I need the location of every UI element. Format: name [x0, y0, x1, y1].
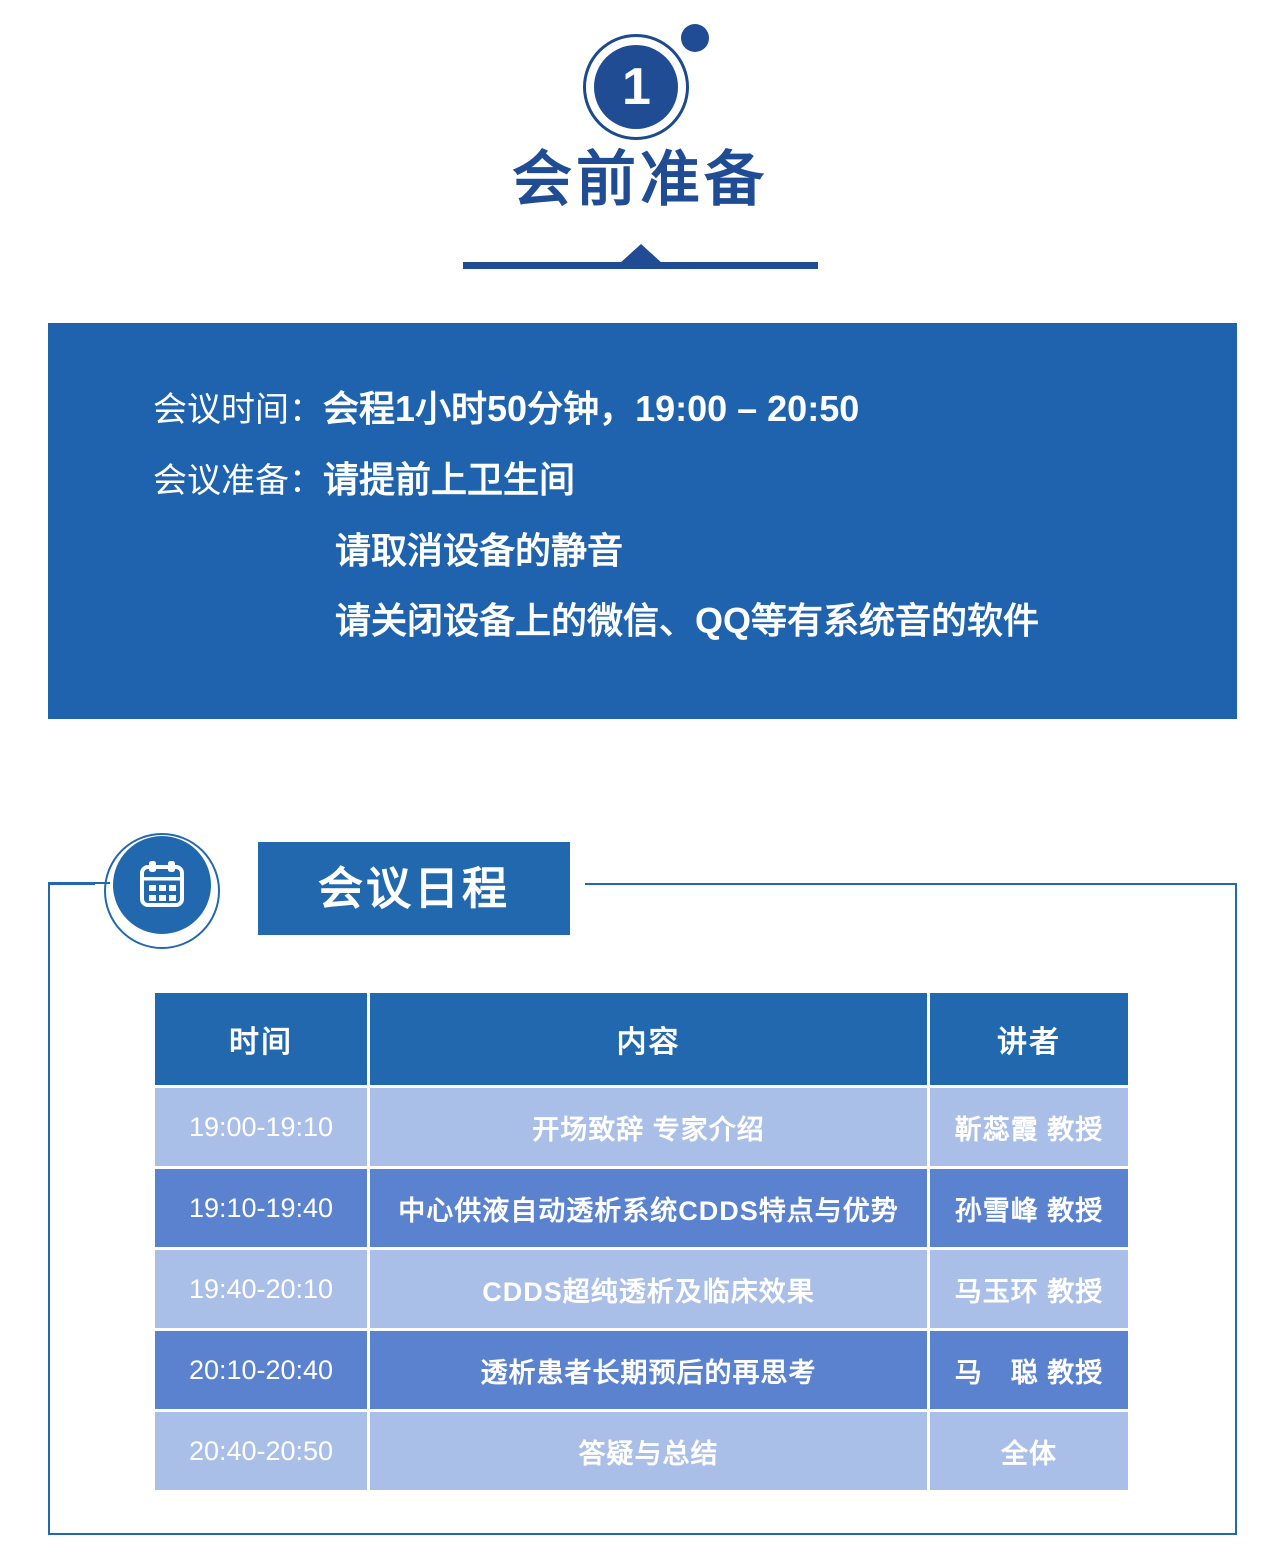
meeting-info-lines: 会议时间： 会程1小时50分钟，19:00 – 20:50 会议准备： 请提前上… [153, 385, 1217, 668]
cell-speaker: 马 聪 教授 [930, 1331, 1128, 1412]
info-row-value: 请关闭设备上的微信、QQ等有系统音的软件 [335, 597, 1039, 646]
cell-time: 19:10-19:40 [155, 1169, 370, 1250]
table-row: 19:40-20:10 CDDS超纯透析及临床效果 马玉环 教授 [155, 1250, 1128, 1331]
section-header: 1 会前准备 [0, 0, 1280, 300]
column-header-content: 内容 [370, 993, 930, 1088]
cell-speaker: 孙雪峰 教授 [930, 1169, 1128, 1250]
frame-top-left-stub [48, 882, 110, 884]
cell-time: 20:40-20:50 [155, 1412, 370, 1490]
cell-content: 答疑与总结 [370, 1412, 930, 1490]
cell-content: 透析患者长期预后的再思考 [370, 1331, 930, 1412]
cell-speaker: 马玉环 教授 [930, 1250, 1128, 1331]
table-row: 20:40-20:50 答疑与总结 全体 [155, 1412, 1128, 1490]
title-arrow-up-icon [619, 244, 663, 264]
calendar-icon-badge [104, 833, 220, 949]
info-row: 请取消设备的静音 [153, 527, 1217, 576]
cell-time: 19:40-20:10 [155, 1250, 370, 1331]
cell-content: 中心供液自动透析系统CDDS特点与优势 [370, 1169, 930, 1250]
cell-content: CDDS超纯透析及临床效果 [370, 1250, 930, 1331]
step-badge: 1 [583, 22, 713, 140]
info-row-value: 会程1小时50分钟，19:00 – 20:50 [323, 385, 859, 434]
info-row-label: 会议准备： [153, 459, 323, 505]
table-row: 19:10-19:40 中心供液自动透析系统CDDS特点与优势 孙雪峰 教授 [155, 1169, 1128, 1250]
cell-time: 19:00-19:10 [155, 1088, 370, 1169]
info-row: 会议准备： 请提前上卫生间 [153, 456, 1217, 505]
info-row-value: 请提前上卫生间 [323, 456, 575, 505]
badge-circle-icon: 1 [594, 45, 678, 129]
schedule-section-label-text: 会议日程 [318, 866, 510, 911]
agenda-table: 时间 内容 讲者 19:00-19:10 开场致辞 专家介绍 靳蕊霞 教授 19… [155, 993, 1128, 1490]
column-header-speaker: 讲者 [930, 993, 1128, 1088]
page-title: 会前准备 [0, 150, 1280, 210]
column-header-time: 时间 [155, 993, 370, 1088]
badge-number: 1 [622, 61, 650, 113]
cell-speaker: 靳蕊霞 教授 [930, 1088, 1128, 1169]
info-row: 会议时间： 会程1小时50分钟，19:00 – 20:50 [153, 385, 1217, 434]
badge-accent-dot-icon [681, 24, 709, 52]
cell-time: 20:10-20:40 [155, 1331, 370, 1412]
cell-speaker: 全体 [930, 1412, 1128, 1490]
table-header-row: 时间 内容 讲者 [155, 993, 1128, 1088]
info-row-value: 请取消设备的静音 [335, 527, 623, 576]
cell-content: 开场致辞 专家介绍 [370, 1088, 930, 1169]
info-row: 请关闭设备上的微信、QQ等有系统音的软件 [153, 597, 1217, 646]
schedule-section-label: 会议日程 [258, 842, 570, 935]
calendar-icon [113, 836, 211, 934]
info-row-label: 会议时间： [153, 388, 323, 434]
meeting-info-box: 会议时间： 会程1小时50分钟，19:00 – 20:50 会议准备： 请提前上… [48, 323, 1237, 719]
table-row: 20:10-20:40 透析患者长期预后的再思考 马 聪 教授 [155, 1331, 1128, 1412]
table-row: 19:00-19:10 开场致辞 专家介绍 靳蕊霞 教授 [155, 1088, 1128, 1169]
